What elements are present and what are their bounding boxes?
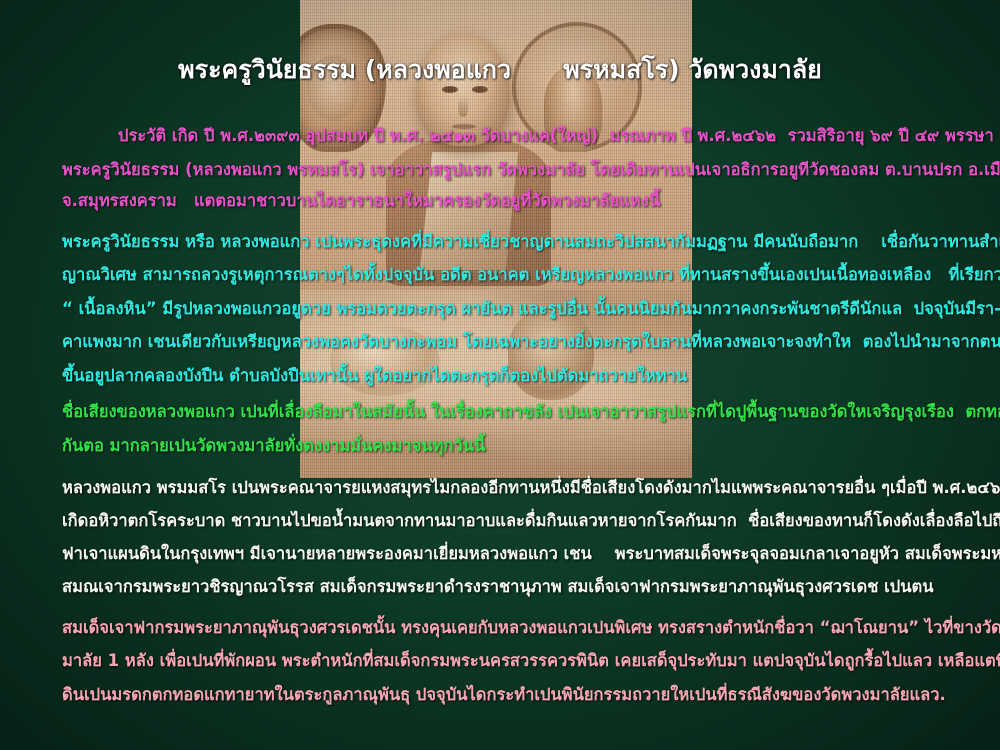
biography-line: ขึ้นอยูปลากคลองบังปืน ตำบลบังปืนเทานั้น … xyxy=(62,367,687,384)
biography-line: เกิดอหิวาตกโรคระบาด ชาวบานไปขอน้ำมนตจากท… xyxy=(62,512,1000,529)
biography-line: คาแพงมาก เชนเดียวกับเหรียญหลวงพอคงวัดบาง… xyxy=(62,333,1000,350)
biography-line: ญาณวิเศษ สามารถลวงรูเหตุการณตางๆไดทั้งปจ… xyxy=(62,266,1000,283)
biography-line: ประวัติ เกิด ปี พ.ศ.๒๓๙๓ อุปสมบท ปี พ.ศ.… xyxy=(118,127,994,144)
text-layer: พระครูวินัยธรรม (หลวงพอแกว พรหมสโร) วัดพ… xyxy=(0,0,1000,750)
biography-line: มาลัย 1 หลัง เพื่อเปนที่พักผอน พระตำหนัก… xyxy=(62,652,1000,669)
biography-line: สมณเจากรมพระยาวชิรญาณวโรรส สมเด็จกรมพระย… xyxy=(62,578,934,595)
biography-line: สมเด็จเจาฟากรมพระยาภาณุพันธุวงศวรเดชนั้น… xyxy=(62,619,1000,636)
biography-line: ฟาเจาแผนดินในกรุงเทพฯ มีเจานายหลายพระองค… xyxy=(62,545,1000,562)
biography-line: พระครูวินัยธรรม หรือ หลวงพอแกว เปนพระธุด… xyxy=(62,233,1000,250)
biography-line: กันตอ มากลายเปนวัดพวงมาลัยทั่งดงงามมั่นค… xyxy=(62,437,485,454)
poster-root: พระครูวินัยธรรม (หลวงพอแกว พรหมสโร) วัดพ… xyxy=(0,0,1000,750)
biography-line: หลวงพอแกว พรมมสโร เปนพระคณาจารยแหงสมุทรไ… xyxy=(62,479,1000,496)
biography-line: จ.สมุทรสงคราม แตตอมาชาวบานไดอาราธนาใหมาค… xyxy=(62,192,660,209)
biography-line: “ เนื้อลงหิน” มีรูปหลวงพอแกวอยูดวย พรอมด… xyxy=(62,300,1000,317)
biography-line: ดินเปนมรดกตกทอดแกทายาทในตระกูลภาณุพันธุ … xyxy=(62,686,946,703)
biography-line: พระครูวินัยธรรม (หลวงพอแกว พรหมสโร) เจาอ… xyxy=(62,161,1000,178)
biography-line: ชื่อเสียงของหลวงพอแกว เปนที่เลื่องลือมาใ… xyxy=(62,403,1000,420)
page-title: พระครูวินัยธรรม (หลวงพอแกว พรหมสโร) วัดพ… xyxy=(0,57,1000,83)
